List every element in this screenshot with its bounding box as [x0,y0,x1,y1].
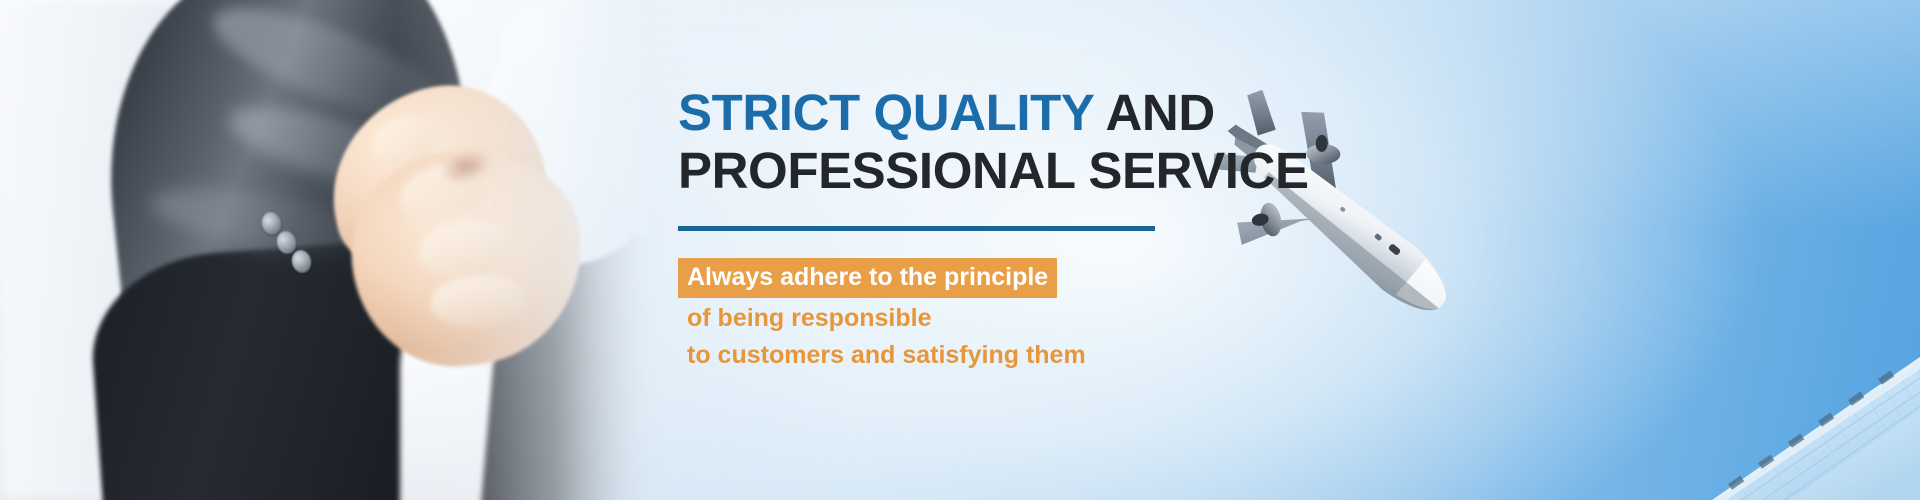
headline-highlight: STRICT QUALITY [678,84,1094,141]
tagline-highlight-row: Always adhere to the principle [678,258,1298,298]
headline-divider [678,226,1155,231]
skyscraper-svg [1490,265,1920,500]
banner-copy: STRICT QUALITY AND PROFESSIONAL SERVICE … [678,84,1298,372]
headline-line-1: STRICT QUALITY AND [678,84,1298,142]
tagline-line-3: to customers and satisfying them [678,338,1298,372]
handshake-photo [0,0,660,500]
tagline-block: Always adhere to the principle of being … [678,258,1298,372]
promo-banner: STRICT QUALITY AND PROFESSIONAL SERVICE … [0,0,1920,500]
headline-line-2: PROFESSIONAL SERVICE [678,142,1298,200]
tagline-highlight: Always adhere to the principle [678,258,1057,298]
photo-fade-mask [0,0,660,500]
headline-rest: AND [1094,84,1215,141]
tagline-line-2: of being responsible [678,301,1298,335]
skyscraper-facade [1490,265,1920,500]
